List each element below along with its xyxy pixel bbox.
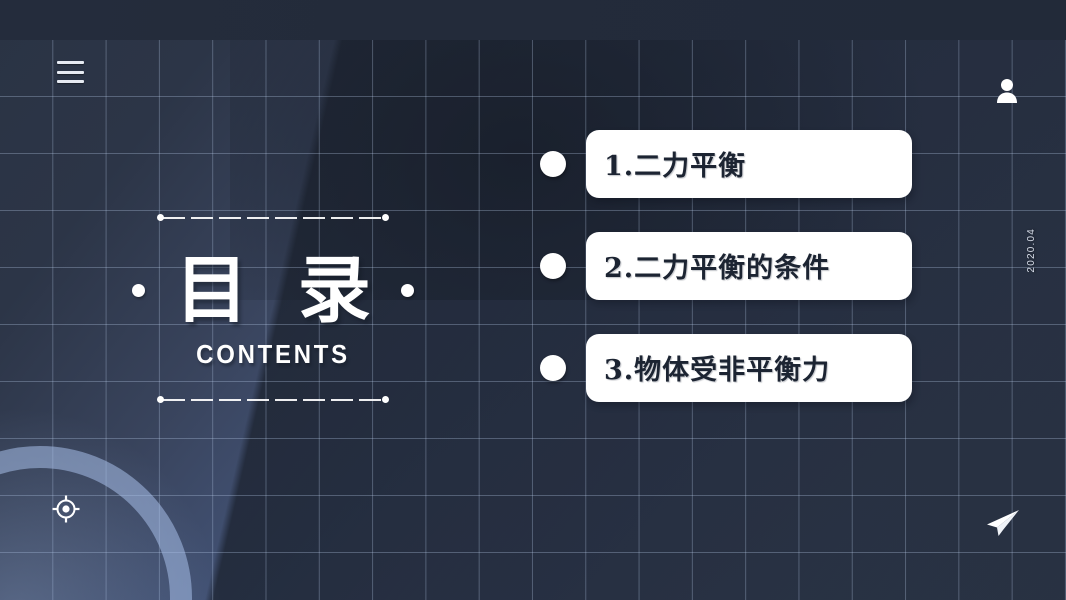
bullet-icon <box>540 355 566 381</box>
title-dot-right <box>401 284 414 297</box>
top-dark-band <box>0 0 1066 40</box>
page-title: 目 录 <box>163 252 382 329</box>
hamburger-bar-1 <box>57 61 84 64</box>
list-item-label: 3.物体受非平衡力 <box>604 348 830 387</box>
decorative-line-top <box>157 210 389 226</box>
hamburger-bar-3 <box>57 80 84 83</box>
list-item[interactable]: 3.物体受非平衡力 <box>540 332 920 403</box>
paper-plane-icon[interactable] <box>985 508 1021 538</box>
user-icon[interactable] <box>996 78 1018 104</box>
hamburger-icon[interactable] <box>57 61 84 83</box>
date-label: 2020.04 <box>1026 228 1037 273</box>
dash-dot-line <box>163 217 383 219</box>
title-dot-left <box>132 284 145 297</box>
item-box[interactable]: 1.二力平衡 <box>586 130 912 198</box>
target-crosshair-icon[interactable] <box>52 495 80 523</box>
dash-dot-line <box>163 399 383 401</box>
page-subtitle: CONTENTS <box>121 339 425 370</box>
contents-item-list: 1.二力平衡 2.二力平衡的条件 3.物体受非平衡力 <box>540 128 920 403</box>
contents-title-block: 目 录 CONTENTS <box>108 210 438 408</box>
bullet-icon <box>540 151 566 177</box>
title-row: 目 录 <box>108 252 438 329</box>
item-box[interactable]: 3.物体受非平衡力 <box>586 334 912 402</box>
line-cap-right <box>382 396 389 403</box>
line-cap-right <box>382 214 389 221</box>
hamburger-bar-2 <box>57 71 84 74</box>
list-item-label: 2.二力平衡的条件 <box>604 246 830 285</box>
item-box[interactable]: 2.二力平衡的条件 <box>586 232 912 300</box>
bullet-icon <box>540 253 566 279</box>
decorative-line-bottom <box>157 392 389 408</box>
ring-glow <box>0 400 230 600</box>
list-item[interactable]: 1.二力平衡 <box>540 128 920 199</box>
decorative-ring-arc <box>0 446 192 600</box>
list-item[interactable]: 2.二力平衡的条件 <box>540 230 920 301</box>
presentation-slide: 2020.04 目 录 CONTENTS <box>0 0 1066 600</box>
list-item-label: 1.二力平衡 <box>604 144 746 183</box>
